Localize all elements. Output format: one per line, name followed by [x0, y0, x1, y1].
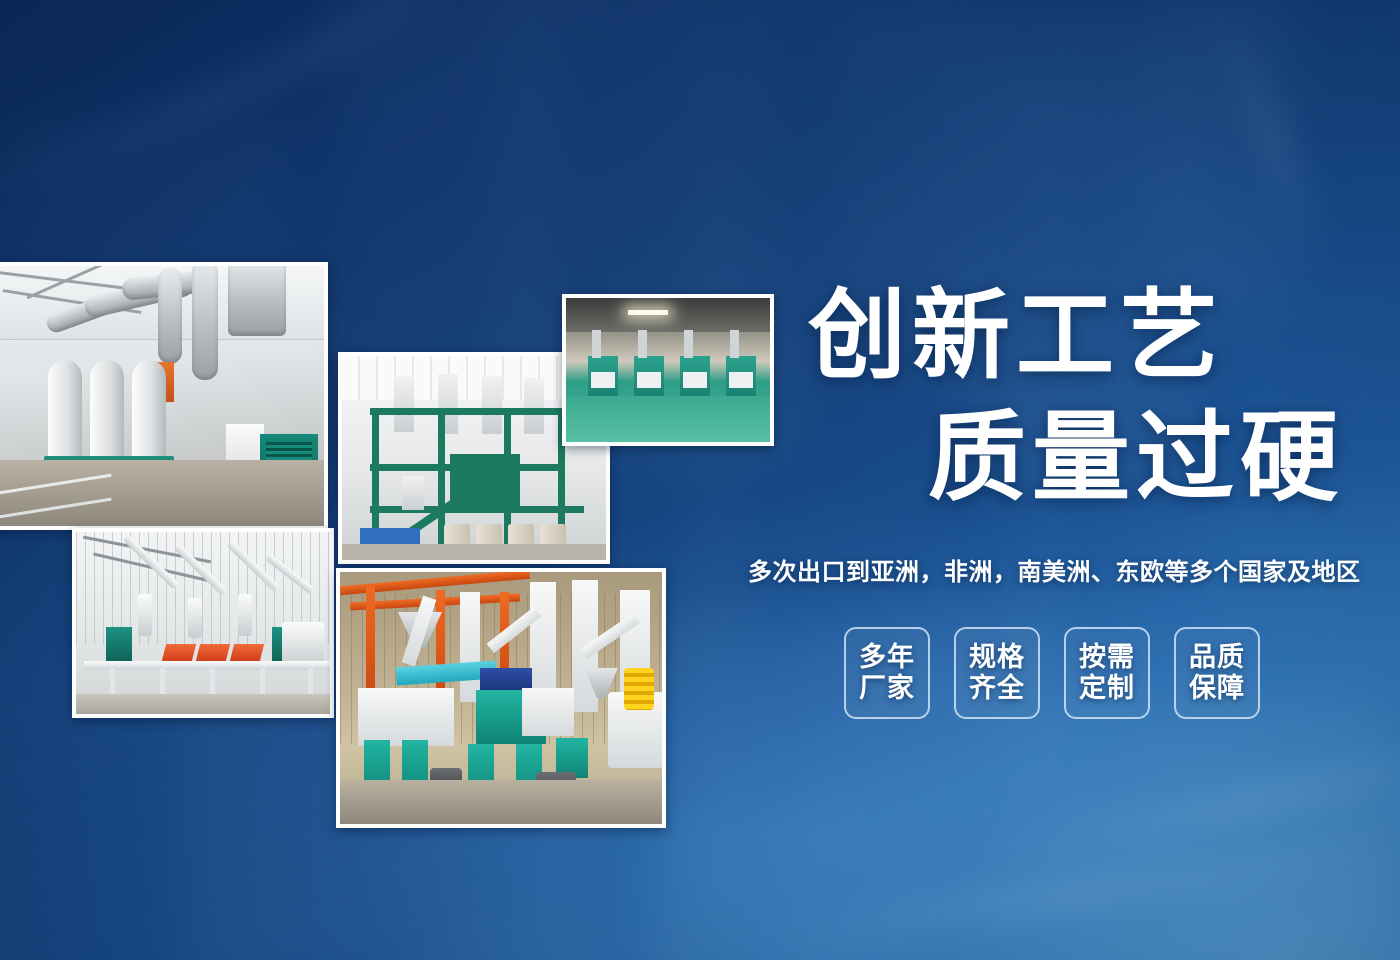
feature-badges: 多年 厂家 规格 齐全 按需 定制 品质 保障	[844, 627, 1368, 719]
photo-flour-cleaning-platform[interactable]	[72, 528, 334, 718]
badge-line-1: 按需	[1079, 642, 1135, 673]
badge-line-2: 保障	[1189, 673, 1245, 704]
badge-line-2: 齐全	[969, 673, 1025, 704]
photo-image	[340, 572, 662, 824]
badge-line-1: 规格	[969, 642, 1025, 673]
photo-combined-rice-mill-plant[interactable]	[336, 568, 666, 828]
headline-line-1: 创新工艺	[748, 286, 1368, 384]
badge-custom-on-demand[interactable]: 按需 定制	[1064, 627, 1150, 719]
badge-many-years-manufacturer[interactable]: 多年 厂家	[844, 627, 930, 719]
banner-content: 创新工艺 质量过硬 多次出口到亚洲，非洲，南美洲、东欧等多个国家及地区 多年 厂…	[748, 286, 1368, 719]
photo-image	[0, 266, 324, 526]
badge-quality-guarantee[interactable]: 品质 保障	[1174, 627, 1260, 719]
badge-line-1: 多年	[859, 642, 915, 673]
photo-rice-milling-line-overview[interactable]	[0, 262, 328, 530]
banner-subtitle: 多次出口到亚洲，非洲，南美洲、东欧等多个国家及地区	[748, 552, 1368, 587]
badge-line-2: 厂家	[859, 673, 915, 704]
photo-image	[76, 532, 330, 714]
badge-line-1: 品质	[1189, 642, 1245, 673]
promo-banner: 创新工艺 质量过硬 多次出口到亚洲，非洲，南美洲、东欧等多个国家及地区 多年 厂…	[0, 0, 1400, 960]
photo-teal-mill-units-green-floor[interactable]	[562, 294, 774, 446]
photo-image	[566, 298, 770, 442]
badge-line-2: 定制	[1079, 673, 1135, 704]
badge-full-specifications[interactable]: 规格 齐全	[954, 627, 1040, 719]
headline-line-2: 质量过硬	[748, 408, 1368, 506]
